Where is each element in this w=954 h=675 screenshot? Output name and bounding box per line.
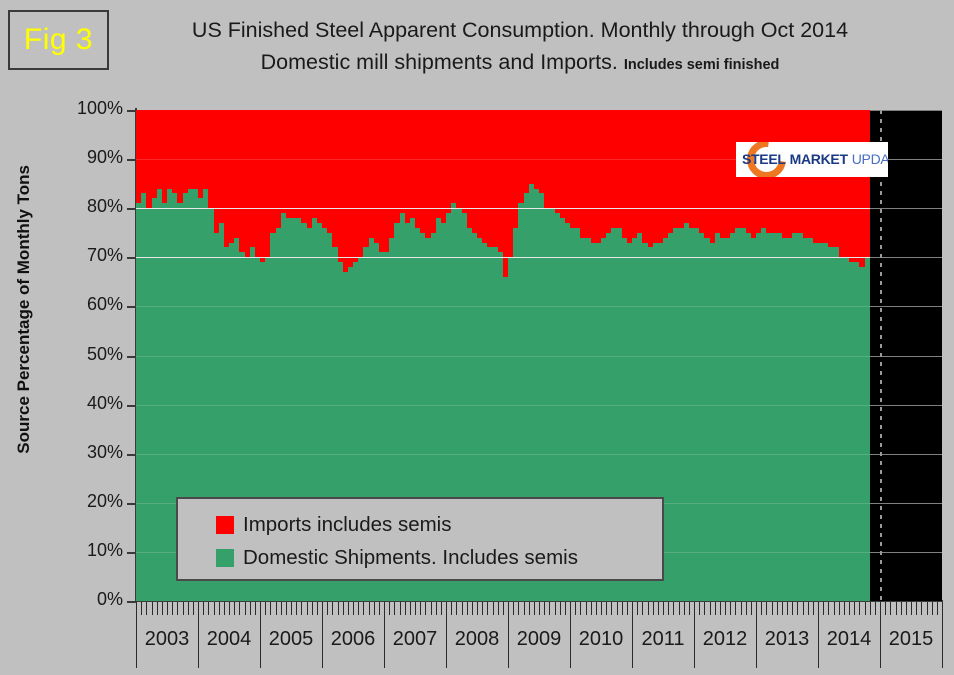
gridline-data (136, 306, 870, 307)
y-tick-mark (127, 257, 135, 259)
chart-title-block: US Finished Steel Apparent Consumption. … (120, 16, 920, 79)
legend-swatch-imports (216, 516, 234, 534)
y-tick-mark (127, 306, 135, 308)
logo-word-steel: STEEL (742, 151, 786, 167)
forecast-divider-line (880, 110, 882, 601)
legend-item-domestic: Domestic Shipments. Includes semis (216, 541, 662, 574)
y-tick-label: 60% (0, 294, 123, 315)
legend-item-imports: Imports includes semis (216, 508, 662, 541)
x-axis-year-label: 2014 (818, 628, 880, 651)
chart-title-line-1: US Finished Steel Apparent Consumption. … (120, 16, 920, 44)
y-tick-mark (127, 405, 135, 407)
x-axis-year-label: 2012 (694, 628, 756, 651)
x-axis-year-label: 2015 (880, 628, 942, 651)
gridline-data (136, 454, 870, 455)
y-tick-mark (127, 356, 135, 358)
y-tick-mark (127, 454, 135, 456)
y-tick-mark (127, 110, 135, 112)
chart-subtitle-row: Domestic mill shipments and Imports.Incl… (120, 48, 920, 79)
y-tick-mark (127, 208, 135, 210)
x-axis-year-label: 2004 (198, 628, 260, 651)
y-tick-label: 80% (0, 196, 123, 217)
x-axis-year-label: 2006 (322, 628, 384, 651)
y-tick-mark (127, 601, 135, 603)
figure-tag-label: Fig 3 (24, 23, 93, 57)
y-tick-mark (127, 552, 135, 554)
figure-tag-box: Fig 3 (8, 10, 109, 70)
y-tick-label: 0% (0, 589, 123, 610)
gridline-data (136, 208, 870, 209)
y-tick-label: 90% (0, 147, 123, 168)
x-axis-year-separators: 2003200420052006200720082009201020112012… (136, 602, 944, 670)
x-axis-year-label: 2011 (632, 628, 694, 651)
x-axis-year-label: 2008 (446, 628, 508, 651)
x-axis-year-label: 2010 (570, 628, 632, 651)
logo-wordmark: STEELMARKETUPDATE (742, 151, 888, 168)
y-tick-mark (127, 503, 135, 505)
x-axis-year-label: 2009 (508, 628, 570, 651)
x-axis-year-label: 2007 (384, 628, 446, 651)
y-tick-label: 40% (0, 393, 123, 414)
logo-word-market: MARKET (790, 151, 848, 167)
x-axis-year-label: 2013 (756, 628, 818, 651)
y-tick-mark (127, 159, 135, 161)
x-year-separator (942, 602, 943, 668)
chart-title-note: Includes semi finished (624, 57, 780, 73)
logo-word-update: UPDATE (852, 151, 888, 167)
y-tick-label: 50% (0, 344, 123, 365)
x-axis-year-label: 2005 (260, 628, 322, 651)
bar-segment-domestic (865, 257, 871, 601)
legend-label-imports: Imports includes semis (243, 513, 451, 537)
bar-segment-imports (865, 110, 871, 257)
x-axis-year-label: 2003 (136, 628, 198, 651)
y-tick-label: 30% (0, 442, 123, 463)
legend-label-domestic: Domestic Shipments. Includes semis (243, 546, 578, 570)
gridline-data (136, 405, 870, 406)
y-tick-label: 70% (0, 245, 123, 266)
steel-market-update-logo: STEELMARKETUPDATE (736, 142, 888, 177)
gridline-data (136, 356, 870, 357)
chart-legend: Imports includes semis Domestic Shipment… (176, 497, 664, 581)
chart-title-line-2: Domestic mill shipments and Imports. (261, 50, 618, 74)
legend-swatch-domestic (216, 549, 234, 567)
y-tick-label: 10% (0, 540, 123, 561)
y-tick-label: 20% (0, 491, 123, 512)
y-tick-label: 100% (0, 98, 123, 119)
gridline-data (136, 257, 870, 258)
